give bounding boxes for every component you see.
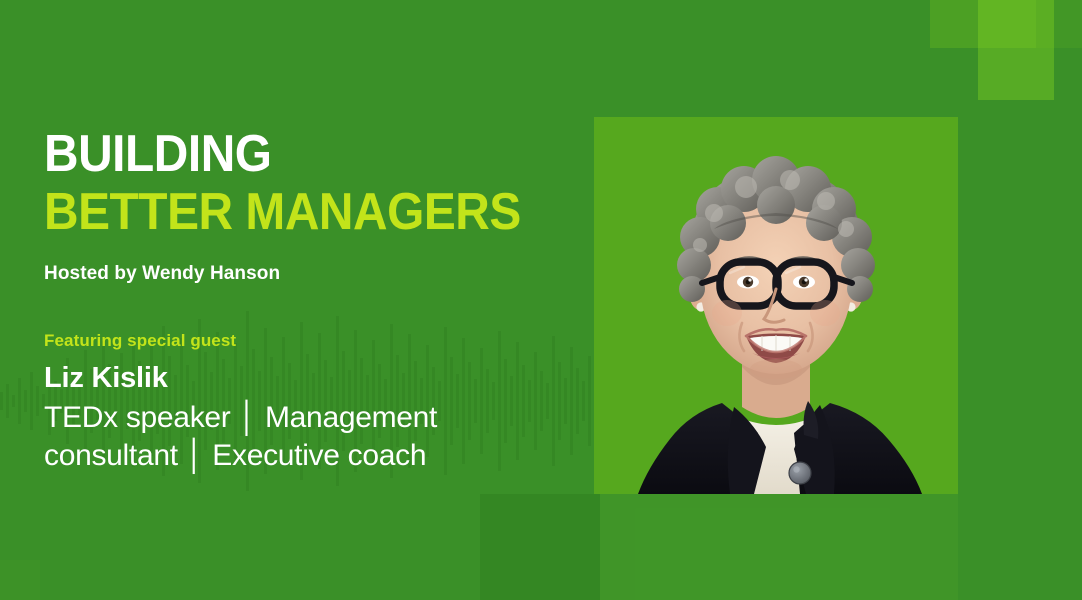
waveform-bar: [30, 372, 33, 430]
guest-photo-panel: [594, 117, 958, 494]
podcast-promo-graphic: BUILDING BETTER MANAGERS Hosted by Wendy…: [0, 0, 1082, 600]
waveform-bar: [12, 395, 15, 407]
guest-portrait-image: [594, 117, 958, 494]
text-content-block: BUILDING BETTER MANAGERS Hosted by Wendy…: [44, 0, 604, 600]
waveform-bar: [36, 386, 39, 416]
decorative-square-top-right-3: [1036, 0, 1082, 48]
decorative-square-bottom-left: [0, 560, 40, 600]
podcast-title-line-2: BETTER MANAGERS: [44, 186, 521, 238]
guest-credentials: TEDx speaker │ Management consultant │ E…: [44, 399, 514, 476]
guest-name: Liz Kislik: [44, 362, 168, 395]
waveform-bar: [6, 384, 9, 418]
waveform-bar: [0, 392, 3, 410]
featuring-guest-label: Featuring special guest: [44, 331, 236, 351]
podcast-title-line-1: BUILDING: [44, 128, 272, 180]
decorative-rect-bottom-right: [600, 494, 958, 600]
waveform-bar: [18, 378, 21, 424]
host-credit: Hosted by Wendy Hanson: [44, 263, 280, 285]
decorative-square-top-right-2: [978, 0, 1054, 100]
waveform-bar: [24, 390, 27, 412]
decorative-square-top-right-1: [930, 0, 1036, 48]
